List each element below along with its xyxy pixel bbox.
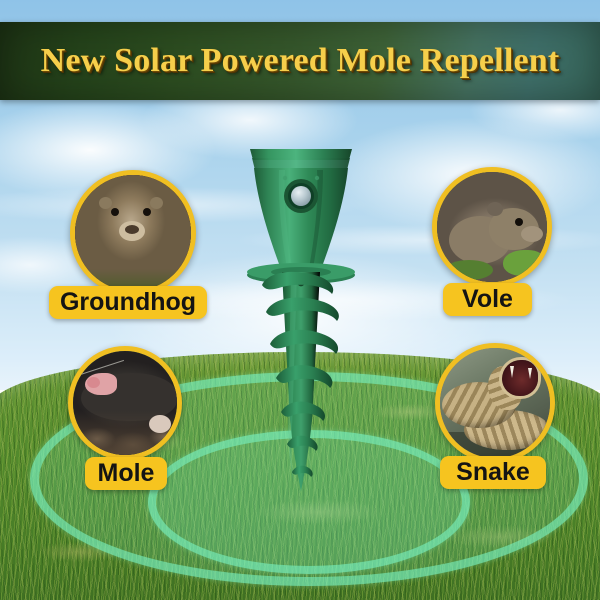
mole-photo-art <box>73 351 177 455</box>
vole-snout <box>521 226 543 242</box>
groundhog-ear-right <box>150 197 163 209</box>
groundhog-photo[interactable] <box>70 170 196 296</box>
snake-label-text: Snake <box>456 460 530 485</box>
mole-label: Mole <box>85 457 167 490</box>
device-head <box>250 149 352 272</box>
page-title: New Solar Powered Mole Repellent <box>41 42 560 80</box>
mole-label-text: Mole <box>98 461 155 486</box>
groundhog-ear-left <box>99 197 112 209</box>
vole-photo[interactable] <box>432 167 552 287</box>
title-banner: New Solar Powered Mole Repellent <box>0 22 600 100</box>
groundhog-label-text: Groundhog <box>60 290 196 315</box>
product-advertisement-image: New Solar Powered Mole Repellent Groundh… <box>0 0 600 600</box>
vole-eye <box>515 218 523 226</box>
groundhog-eye-left <box>111 208 119 216</box>
vole-leaf-back <box>445 260 493 280</box>
groundhog-nose <box>125 225 139 234</box>
vole-label: Vole <box>443 283 532 316</box>
groundhog-label: Groundhog <box>49 286 207 319</box>
snake-photo[interactable] <box>435 343 555 463</box>
vole-label-text: Vole <box>462 287 513 312</box>
mole-photo[interactable] <box>68 346 182 460</box>
snake-label: Snake <box>440 456 546 489</box>
mole-paw <box>149 415 171 433</box>
vole-photo-art <box>437 172 547 282</box>
vole-leaf-front <box>503 250 545 276</box>
mole-nose <box>87 377 100 388</box>
snake-open-mouth <box>502 360 538 396</box>
snake-photo-art <box>440 348 550 458</box>
vole-ear <box>487 202 503 216</box>
groundhog-eye-right <box>143 208 151 216</box>
groundhog-photo-art <box>75 175 191 291</box>
